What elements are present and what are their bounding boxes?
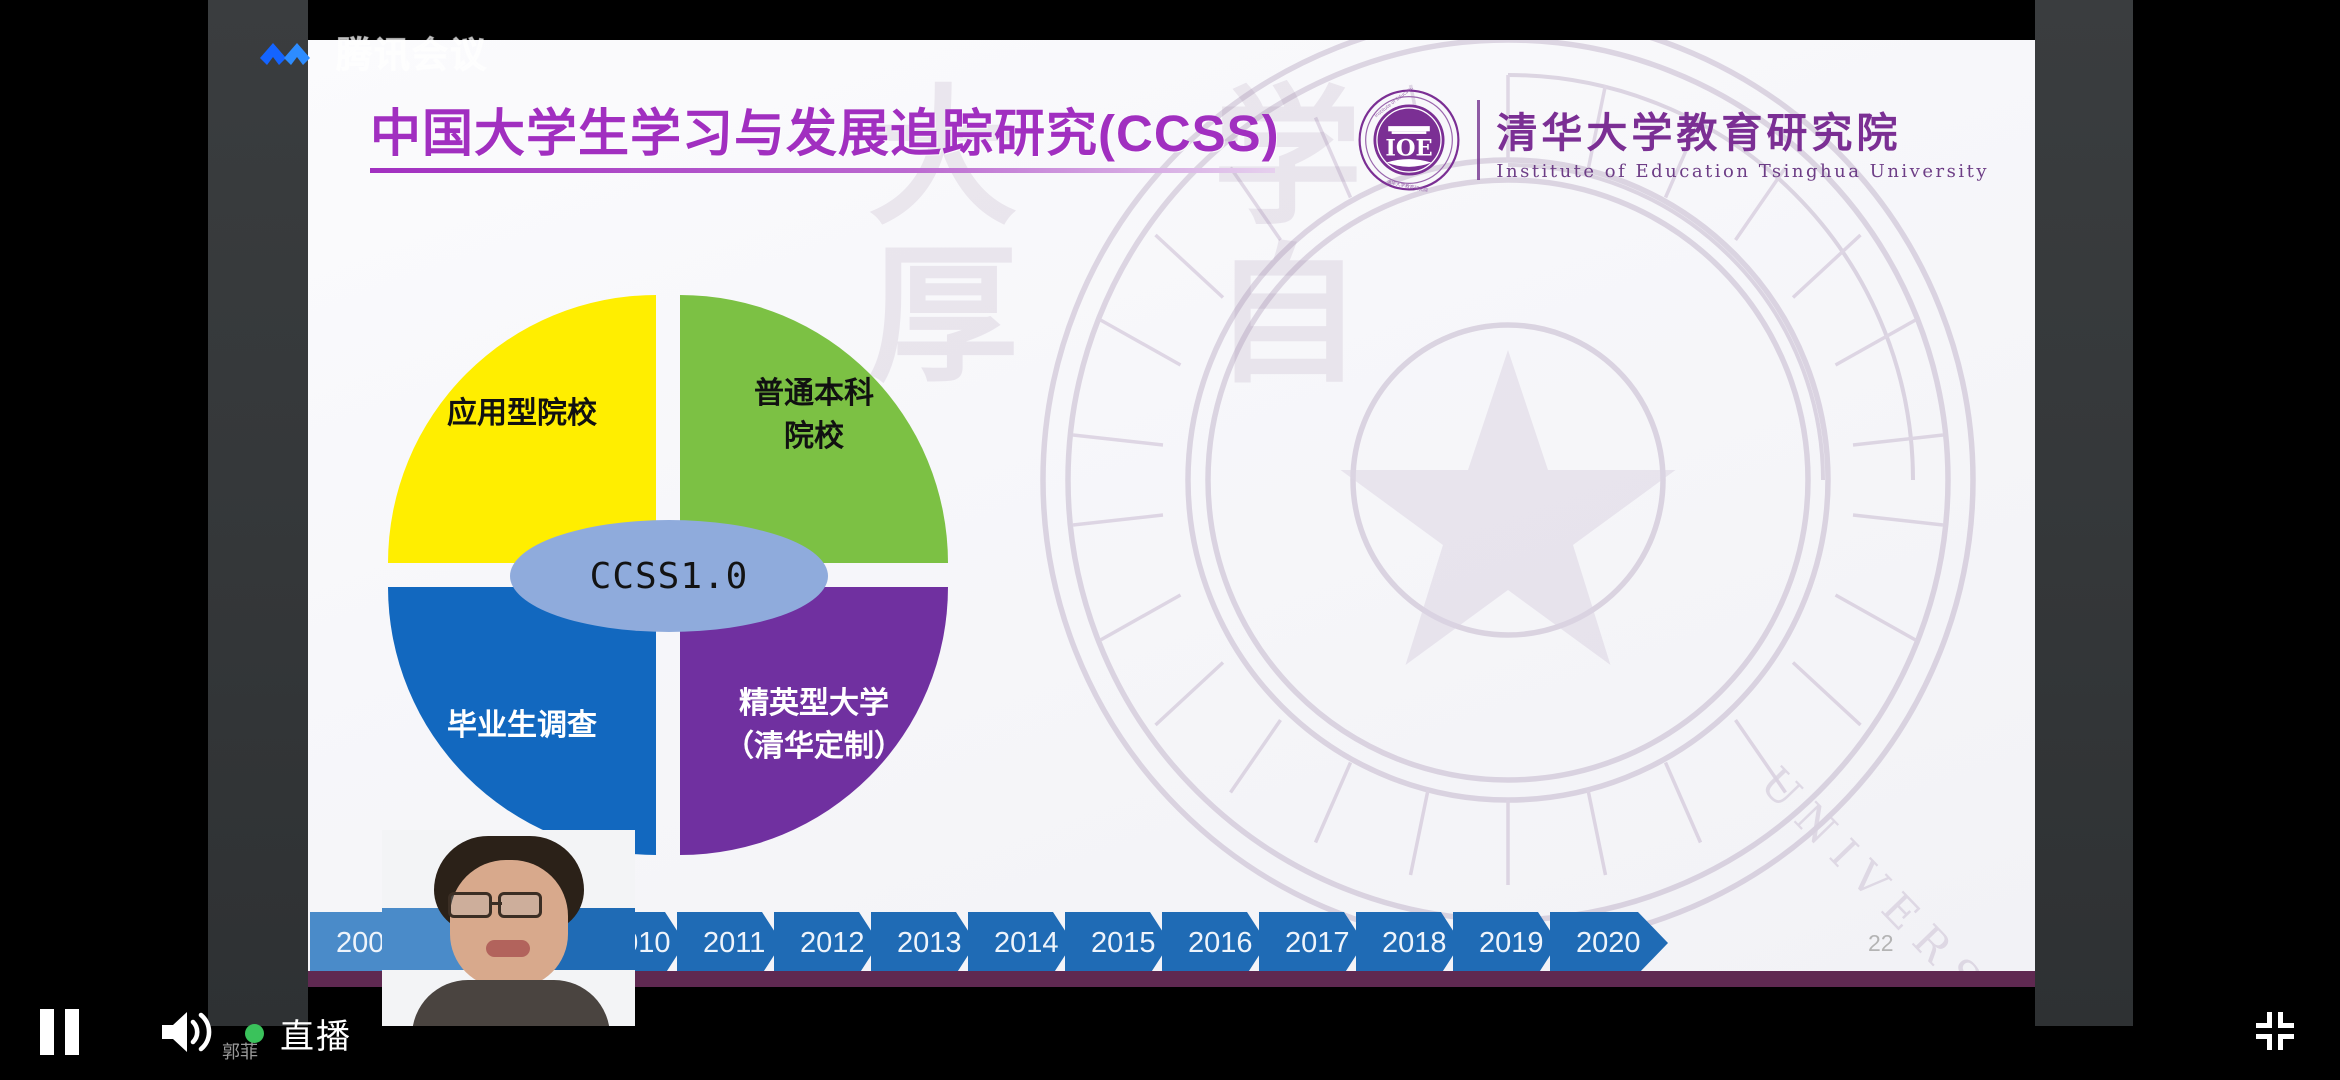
timeline-segment-label: 2016 xyxy=(1188,927,1253,960)
institute-name-en: Institute of Education Tsinghua Universi… xyxy=(1496,161,1989,182)
timeline-segment-label: 2015 xyxy=(1091,927,1156,960)
pause-icon xyxy=(40,1009,54,1055)
timeline-segment-label: 2018 xyxy=(1382,927,1447,960)
timeline-segment: 2018 xyxy=(1356,912,1461,974)
volume-icon xyxy=(158,1006,216,1058)
timeline-segment-label: 2014 xyxy=(994,927,1059,960)
logo-divider xyxy=(1477,100,1480,180)
quadrant-label: 普通本科 院校 xyxy=(680,373,948,458)
timeline-segment: 2019 xyxy=(1453,912,1558,974)
institute-name-cn: 清华大学教育研究院 xyxy=(1496,99,1989,159)
svg-text:IOE: IOE xyxy=(1386,136,1433,162)
ioe-seal-icon: IOE Institute of Education 清华大学教育研究院 xyxy=(1357,88,1461,192)
pause-icon xyxy=(65,1009,79,1055)
slide-title: 中国大学生学习与发展追踪研究(CCSS) xyxy=(370,92,1280,166)
institute-logo: IOE Institute of Education 清华大学教育研究院 清华大… xyxy=(1357,88,1989,192)
volume-button[interactable] xyxy=(158,1006,216,1058)
timeline-segment: 2014 xyxy=(968,912,1073,974)
timeline-segment: 2012 xyxy=(774,912,879,974)
timeline-segment-label: 2020 xyxy=(1576,927,1641,960)
slide-page-number: 22 xyxy=(1868,930,1894,957)
player-control-bar: 直播 xyxy=(0,986,2340,1080)
quadrant-label: 精英型大学 （清华定制） xyxy=(680,683,948,768)
timeline-segment: 2017 xyxy=(1259,912,1364,974)
live-stream-player: U N I V E R S I T Y 大 学 厚 自 中国大学生学习与发展追踪… xyxy=(0,0,2340,1080)
timeline-segment-label: 2013 xyxy=(897,927,962,960)
diagram-center-label: CCSS1.0 xyxy=(510,520,828,632)
live-status: 直播 xyxy=(245,1009,352,1058)
timeline-segment: 2016 xyxy=(1162,912,1267,974)
timeline-segment-label: 2017 xyxy=(1285,927,1350,960)
ccss-quadrant-diagram: 应用型院校 普通本科 院校 毕业生调查 精英型大学 （清华定制） CCSS1.0 xyxy=(388,295,948,855)
timeline-segment: 2011 xyxy=(677,912,782,974)
live-indicator-dot xyxy=(245,1024,264,1043)
timeline-segment-label: 2012 xyxy=(800,927,865,960)
timeline-segment: 2020 xyxy=(1550,912,1668,974)
exit-fullscreen-icon xyxy=(2252,1008,2298,1054)
timeline-segment-label: 2019 xyxy=(1479,927,1544,960)
quadrant-label: 毕业生调查 xyxy=(388,705,656,748)
exit-fullscreen-button[interactable] xyxy=(2252,1008,2298,1054)
quadrant-label: 应用型院校 xyxy=(388,393,656,436)
timeline-segment: 2015 xyxy=(1065,912,1170,974)
pause-button[interactable] xyxy=(40,1006,96,1058)
stage-right-column xyxy=(2035,0,2133,1026)
live-status-label: 直播 xyxy=(280,1009,352,1058)
timeline-segment-label: 2011 xyxy=(703,927,765,960)
timeline-segment: 2013 xyxy=(871,912,976,974)
stage-left-column xyxy=(208,0,308,1026)
slide-title-underline xyxy=(370,168,1275,173)
